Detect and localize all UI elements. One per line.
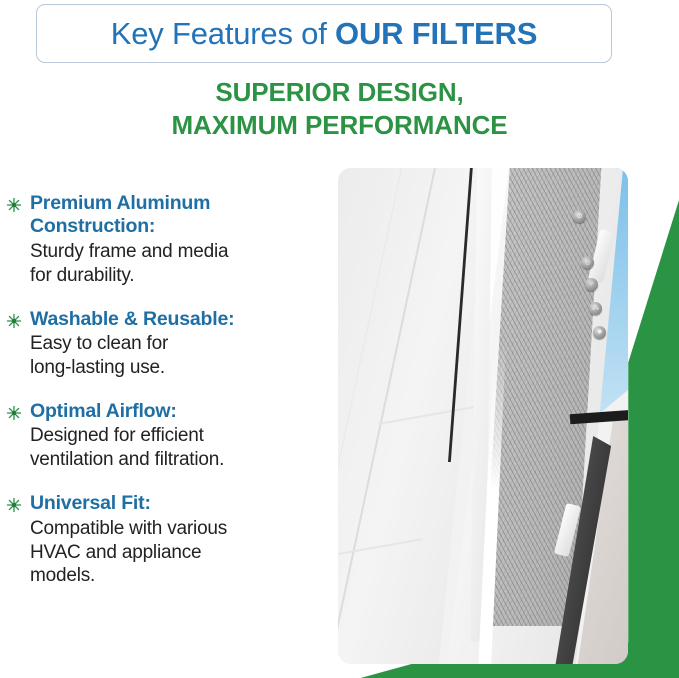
hood-control-button[interactable]: ⑂ <box>585 278 598 291</box>
feature-heading: Washable & Reusable: <box>30 308 326 331</box>
subtitle-line-2: MAXIMUM PERFORMANCE <box>0 109 679 142</box>
page-title-prefix: Key Features of <box>111 16 335 51</box>
feature-body: Designed for efficient ventilation and f… <box>30 424 326 472</box>
feature-item: Optimal Airflow: Designed for efficient … <box>4 400 326 472</box>
feature-heading: Optimal Airflow: <box>30 400 326 423</box>
green-asterisk-icon <box>6 197 22 213</box>
title-box: Key Features of OUR FILTERS <box>36 4 612 63</box>
product-photo-scene: ⚙ ◎ ⑂ ⁂ ✹ <box>338 168 628 664</box>
feature-heading: Premium Aluminum Construction: <box>30 192 326 239</box>
green-asterisk-icon <box>6 497 22 513</box>
subtitle: SUPERIOR DESIGN, MAXIMUM PERFORMANCE <box>0 76 679 142</box>
subtitle-line-1: SUPERIOR DESIGN, <box>0 76 679 109</box>
page-title: Key Features of OUR FILTERS <box>111 18 537 49</box>
feature-body: Sturdy frame and media for durability. <box>30 240 326 288</box>
feature-body: Easy to clean for long-lasting use. <box>30 332 326 380</box>
feature-list: Premium Aluminum Construction: Sturdy fr… <box>4 192 326 608</box>
hood-control-button[interactable]: ◎ <box>581 256 594 269</box>
hood-control-panel: ⚙ ◎ ⑂ ⁂ ✹ <box>560 168 628 664</box>
green-asterisk-icon <box>6 405 22 421</box>
feature-item: Washable & Reusable: Easy to clean for l… <box>4 308 326 380</box>
feature-body: Compatible with various HVAC and applian… <box>30 517 326 589</box>
green-asterisk-icon <box>6 313 22 329</box>
feature-item: Premium Aluminum Construction: Sturdy fr… <box>4 192 326 288</box>
page-title-emphasis: OUR FILTERS <box>335 16 537 51</box>
product-photo: ⚙ ◎ ⑂ ⁂ ✹ <box>338 168 628 664</box>
hood-control-button[interactable]: ✹ <box>593 326 606 339</box>
hood-control-button[interactable]: ⚙ <box>573 210 586 223</box>
feature-infographic: Key Features of OUR FILTERS SUPERIOR DES… <box>0 0 679 678</box>
feature-heading: Universal Fit: <box>30 492 326 515</box>
hood-control-button[interactable]: ⁂ <box>589 302 602 315</box>
feature-item: Universal Fit: Compatible with various H… <box>4 492 326 588</box>
green-accent-wedge <box>620 200 679 678</box>
